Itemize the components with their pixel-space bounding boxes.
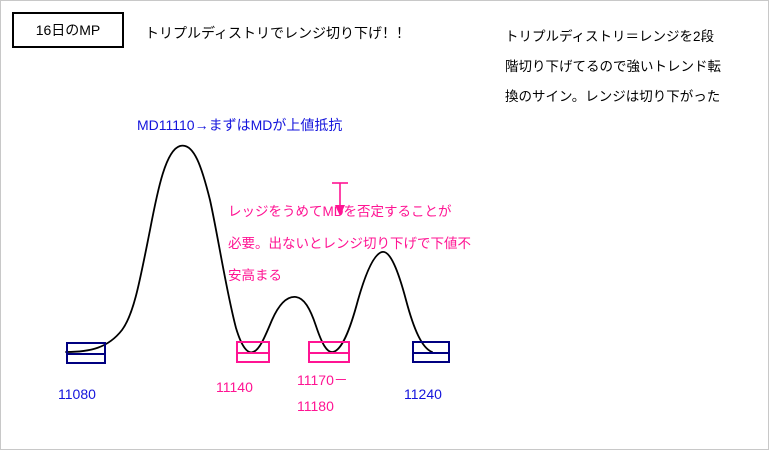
pink-annotation-line-3: 安高まる [228, 260, 282, 292]
level-box-11080-bar [68, 353, 104, 355]
mp-title-label: 16日のMP [36, 20, 101, 40]
level-box-11240 [412, 341, 450, 363]
level-label-11180: 11180 [297, 398, 334, 414]
note-line-1: トリプルディストリ＝レンジを2段 [505, 22, 714, 52]
level-box-11170-bar [310, 352, 348, 354]
level-box-11080 [66, 342, 106, 364]
level-label-11080: 11080 [58, 386, 96, 402]
level-box-11140-bar [238, 352, 268, 354]
note-line-3: 換のサイン。レンジは切り下がった [505, 82, 720, 112]
note-line-2: 階切り下げてるので強いトレンド転 [505, 52, 721, 82]
pink-annotation-line-1: レッジをうめてMDを否定することが [228, 196, 452, 228]
mp-title-box: 16日のMP [12, 12, 124, 48]
headline-text: トリプルディストリでレンジ切り下げ！！ [145, 23, 410, 43]
level-label-11240: 11240 [404, 386, 442, 402]
level-label-11170: 11170－ [297, 370, 348, 390]
level-box-11240-bar [414, 352, 448, 354]
pink-annotation-line-2: 必要。出ないとレンジ切り下げで下値不 [228, 228, 471, 260]
md-annotation: MD11110→まずはMDが上値抵抗 [137, 115, 342, 135]
level-label-11140: 11140 [216, 379, 253, 395]
level-box-11170 [308, 341, 350, 363]
level-box-11140 [236, 341, 270, 363]
